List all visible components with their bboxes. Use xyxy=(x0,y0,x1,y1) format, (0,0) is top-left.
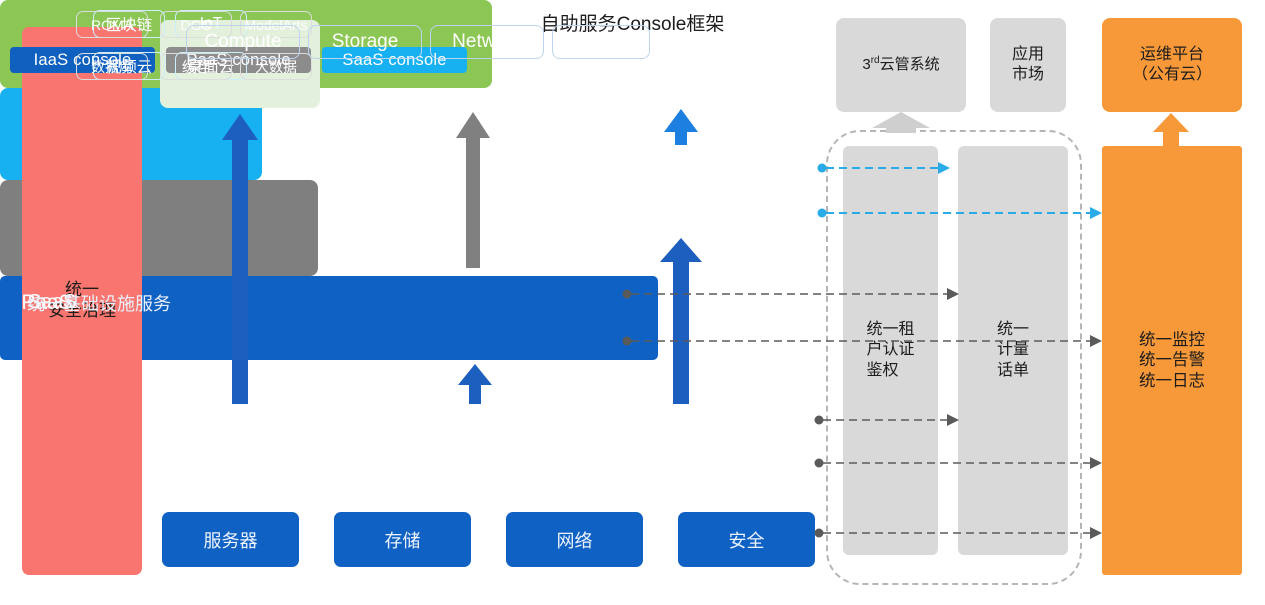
arrow-iaas-to-saas xyxy=(660,238,702,404)
hardware-security-box: 安全 xyxy=(678,512,815,567)
hardware-network-box: 网络 xyxy=(506,512,643,567)
third-party-label: 3rd云管系统 xyxy=(862,55,939,74)
iaas-service-storage[interactable]: Storage xyxy=(308,25,422,59)
iaas-service-compute[interactable]: Compute xyxy=(186,25,300,59)
unified-tenant-auth-column: 统一租 户认证 鉴权 xyxy=(843,146,938,555)
unified-infrastructure-service-label: 统一基础设施服务 xyxy=(14,0,184,605)
unified-infrastructure-service-layer: 统一基础设施服务 Compute Storage Network CCE xyxy=(0,276,658,360)
ops-platform-public-cloud-box: 运维平台 （公有云） xyxy=(1102,18,1242,112)
arrow-saas-to-console xyxy=(664,109,698,145)
unified-monitoring-alarm-log-box: 统一监控 统一告警 统一日志 xyxy=(1102,146,1242,575)
arrow-ops-body-to-ops-platform xyxy=(1153,113,1189,146)
third-party-label-rest: 云管系统 xyxy=(880,56,940,73)
arrow-paas-to-console xyxy=(456,112,490,268)
unified-metering-billing-column: 统一 计量 话单 xyxy=(958,146,1068,555)
hardware-storage-box: 存储 xyxy=(334,512,471,567)
third-party-ordinal-suffix: rd xyxy=(871,55,880,66)
iaas-service-cce[interactable]: CCE xyxy=(552,25,650,59)
third-party-cloud-management-box: 3rd云管系统 xyxy=(836,18,966,112)
hardware-server-box: 服务器 xyxy=(162,512,299,567)
architecture-diagram: 统一 安全治理 API网关 自助服务Console框架 IaaS console… xyxy=(0,0,1265,605)
application-market-box: 应用 市场 xyxy=(990,18,1066,112)
iaas-service-network[interactable]: Network xyxy=(430,25,544,59)
third-party-ordinal: 3 xyxy=(862,56,870,73)
arrow-iaas-to-paas xyxy=(458,364,492,404)
